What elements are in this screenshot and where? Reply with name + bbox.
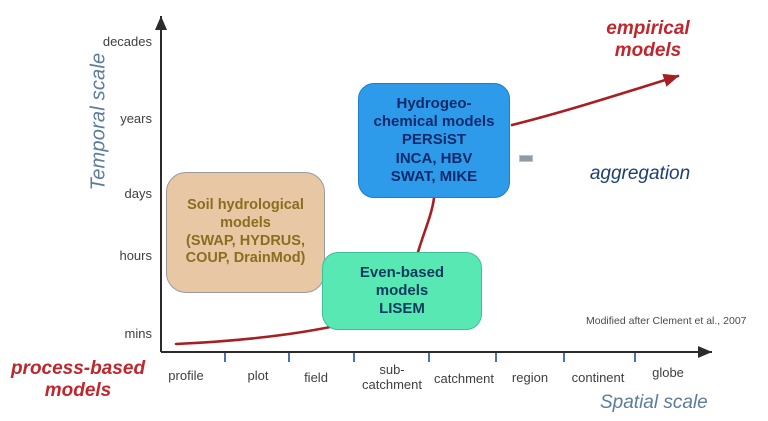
soil-hydrological-models-box[interactable]: Soil hydrological models (SWAP, HYDRUS, … xyxy=(166,172,325,293)
x-tick-label-globe: globe xyxy=(652,366,684,381)
y-tick-label-days: days xyxy=(125,186,152,201)
process-based-models-line-2: models xyxy=(11,380,145,402)
soil-hydrological-models-text: Soil hydrological models (SWAP, HYDRUS, … xyxy=(186,197,306,268)
x-tick-label-plot: plot xyxy=(248,369,269,384)
process-curve-middle xyxy=(418,198,434,252)
source-credit: Modified after Clement et al., 2007 xyxy=(586,315,747,327)
event-based-models-box[interactable]: Even-based models LISEM xyxy=(322,252,482,330)
process-based-models-line-1: process-based xyxy=(11,358,145,380)
soil-box-line-1: Soil hydrological xyxy=(186,197,306,215)
x-tick-mark-2 xyxy=(288,353,290,362)
soil-box-line-2: models xyxy=(186,215,306,233)
hydro-box-line-1: Hydrogeo- xyxy=(374,95,495,113)
x-tick-label-profile: profile xyxy=(168,369,203,384)
soil-box-line-3: (SWAP, HYDRUS, xyxy=(186,233,306,251)
x-tick-label-region: region xyxy=(512,371,548,386)
hydro-box-line-2: chemical models xyxy=(374,113,495,131)
gray-dash-marker-icon xyxy=(519,155,533,162)
hydrogeochemical-models-text: Hydrogeo- chemical models PERSiST INCA, … xyxy=(374,95,495,186)
x-tick-mark-5 xyxy=(495,353,497,362)
x-tick-mark-3 xyxy=(353,353,355,362)
y-tick-label-decades: decades xyxy=(103,34,152,49)
x-tick-mark-4 xyxy=(428,353,430,362)
hydrogeochemical-models-box[interactable]: Hydrogeo- chemical models PERSiST INCA, … xyxy=(358,83,510,198)
x-tick-mark-1 xyxy=(224,353,226,362)
event-box-line-2: models xyxy=(360,282,444,300)
empirical-models-line-2: models xyxy=(606,40,689,62)
y-tick-label-years: years xyxy=(120,111,152,126)
x-tick-label-field: field xyxy=(304,371,328,386)
event-box-line-3: LISEM xyxy=(360,300,444,318)
empirical-models-label: empirical models xyxy=(606,18,689,62)
x-tick-label-sub-catchment-line-2: catchment xyxy=(362,378,422,393)
soil-box-line-4: COUP, DrainMod) xyxy=(186,250,306,268)
y-tick-label-hours: hours xyxy=(119,248,152,263)
y-tick-label-mins: mins xyxy=(125,326,152,341)
x-tick-label-catchment: catchment xyxy=(434,372,494,387)
hydro-box-line-5: SWAT, MIKE xyxy=(374,168,495,186)
process-based-models-label: process-based models xyxy=(11,358,145,402)
event-based-models-text: Even-based models LISEM xyxy=(360,264,444,319)
aggregation-label: aggregation xyxy=(590,163,690,185)
hydro-box-line-4: INCA, HBV xyxy=(374,150,495,168)
hydro-box-line-3: PERSiST xyxy=(374,131,495,149)
empirical-models-line-1: empirical xyxy=(606,18,689,40)
x-tick-mark-6 xyxy=(563,353,565,362)
spatial-axis-label: Spatial scale xyxy=(600,392,708,414)
x-tick-label-sub-catchment-line-1: sub- xyxy=(362,363,422,378)
x-tick-label-continent: continent xyxy=(572,371,625,386)
event-box-line-1: Even-based xyxy=(360,264,444,282)
diagram-canvas: Temporal scale decades years days hours … xyxy=(0,0,768,421)
x-tick-label-sub-catchment: sub- catchment xyxy=(362,363,422,392)
x-tick-mark-7 xyxy=(634,353,636,362)
empirical-models-arrow xyxy=(512,76,678,125)
